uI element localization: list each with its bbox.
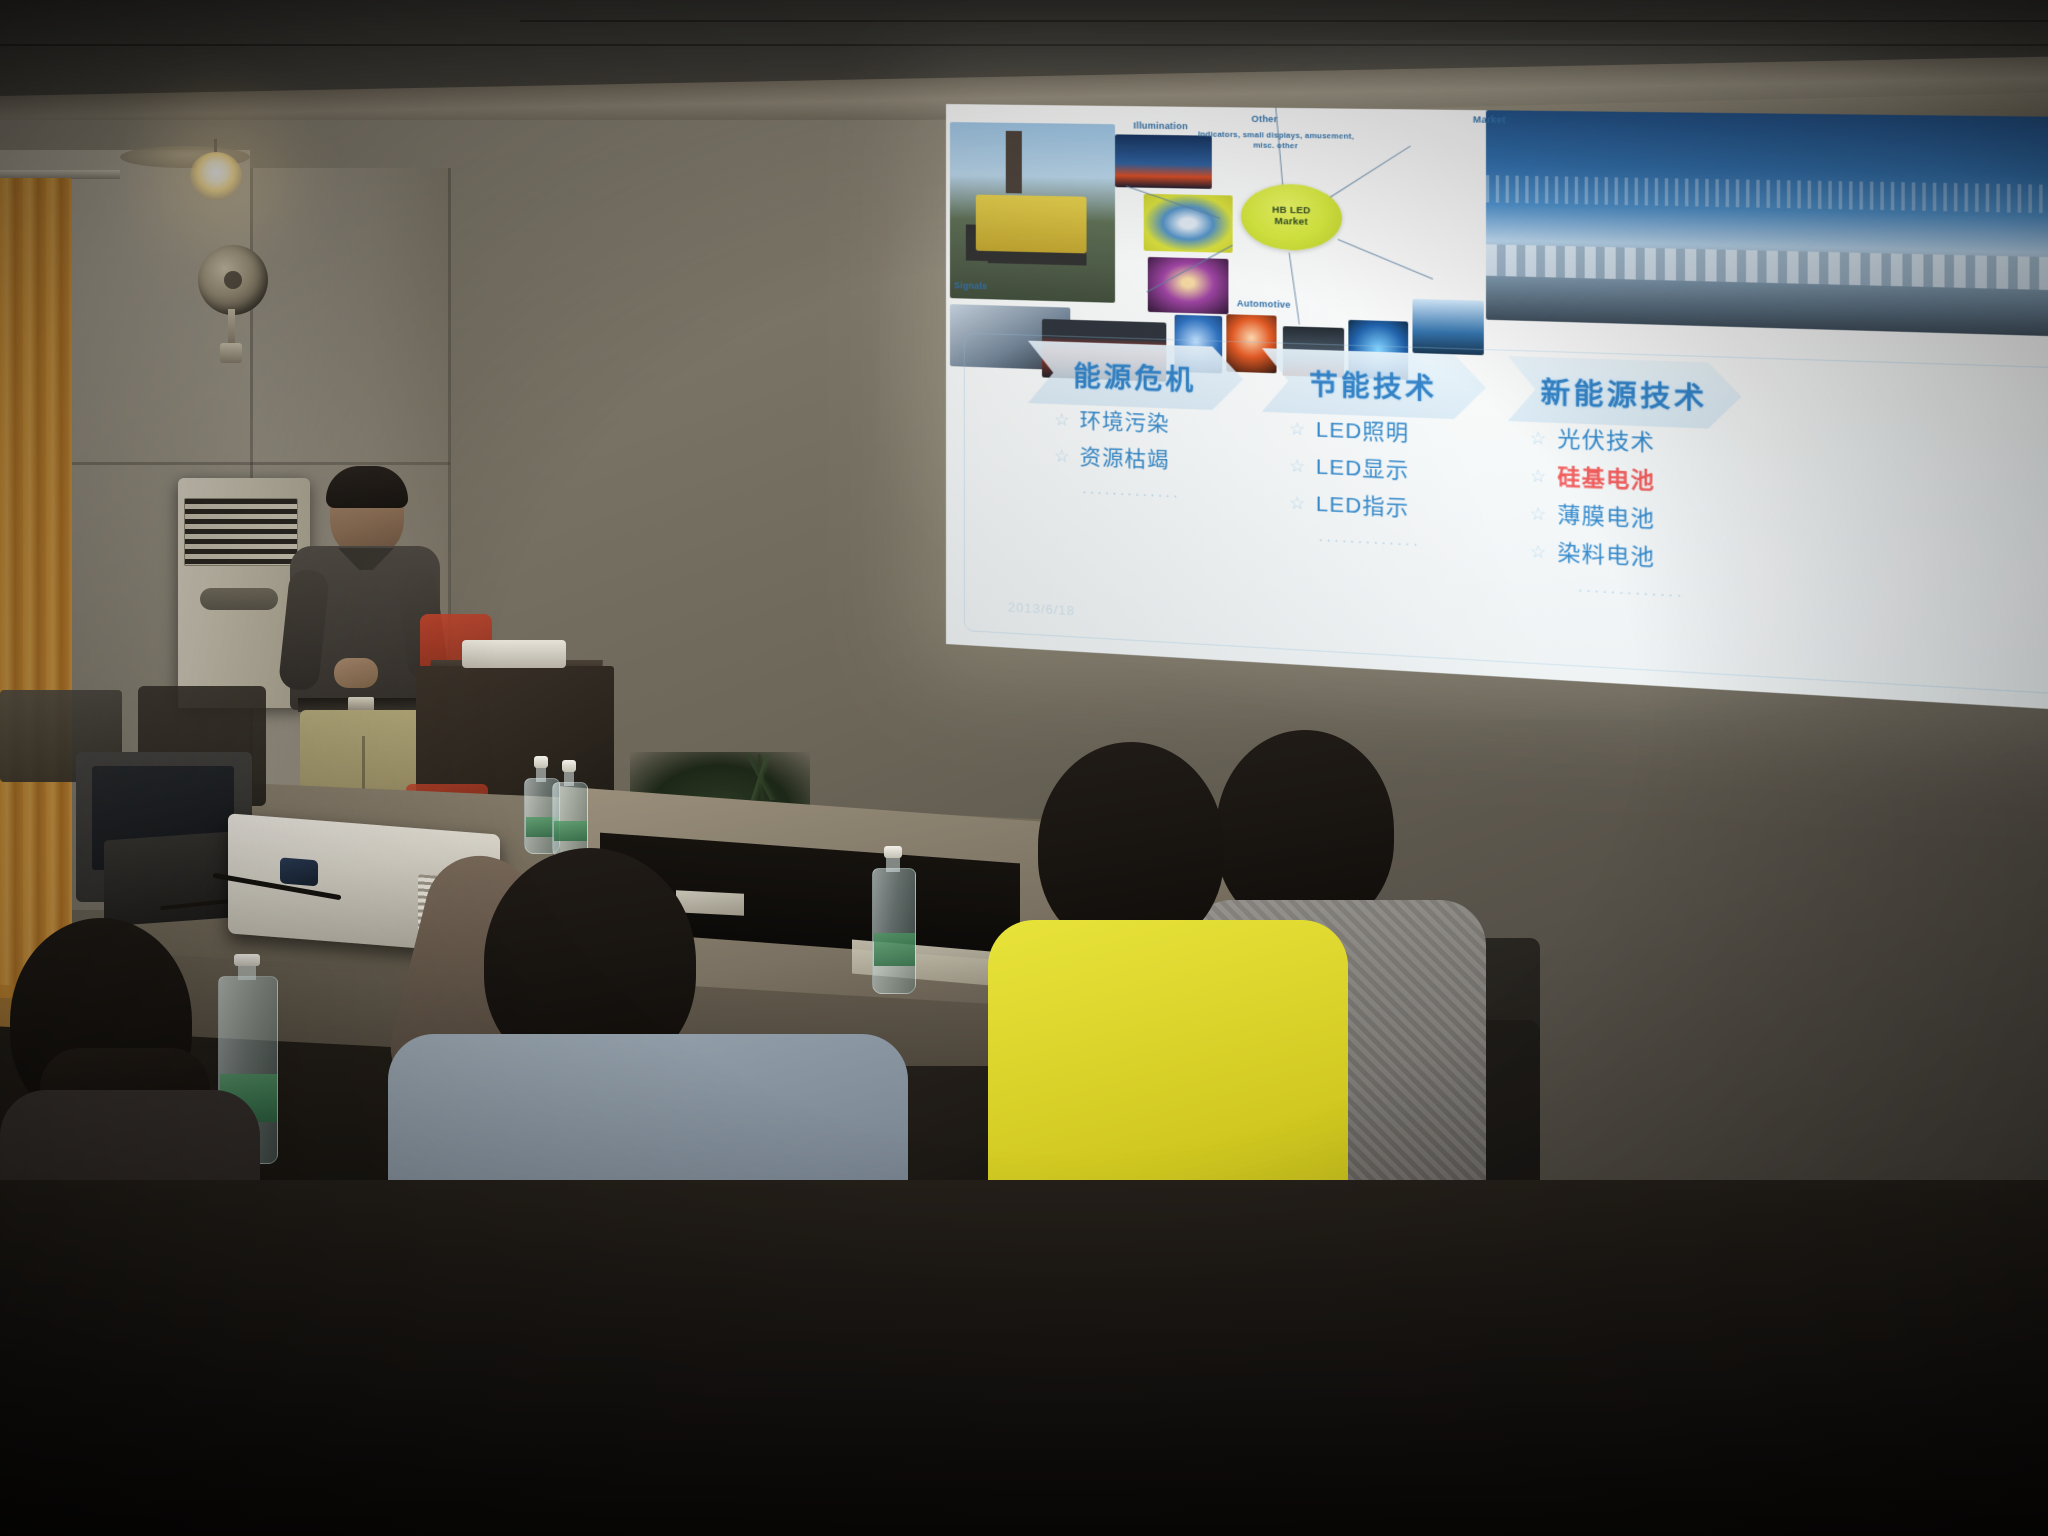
star-icon: ☆ bbox=[1054, 443, 1070, 470]
star-icon: ☆ bbox=[1289, 453, 1306, 480]
projection-screen: HB LED Market Illumination Other Indicat… bbox=[946, 104, 2048, 715]
conference-room-photo: HB LED Market Illumination Other Indicat… bbox=[0, 0, 2048, 1536]
diagram-label-illumination: Illumination bbox=[1133, 120, 1187, 131]
fan-head-icon bbox=[198, 245, 268, 315]
diagram-spoke bbox=[1329, 145, 1411, 198]
presenter-hands bbox=[334, 658, 378, 688]
fan-hub bbox=[224, 271, 242, 289]
column-title: 节能技术 bbox=[1309, 362, 1437, 407]
list-item-label: 薄膜电池 bbox=[1557, 499, 1655, 537]
bottle-label bbox=[554, 821, 587, 840]
ac-brand-badge bbox=[200, 588, 278, 610]
column-ellipsis: ............. bbox=[1082, 480, 1264, 504]
presenter-hair bbox=[326, 466, 408, 508]
list-item: ☆ 资源枯竭 bbox=[1054, 440, 1264, 481]
list-item-label: 硅基电池 bbox=[1557, 461, 1655, 499]
column-header-chevron: 能源危机 bbox=[1028, 341, 1243, 412]
list-item: ☆ LED显示 bbox=[1289, 450, 1508, 492]
hb-led-market-hub: HB LED Market bbox=[1241, 183, 1342, 251]
star-icon: ☆ bbox=[1530, 425, 1548, 453]
list-item-label: 染料电池 bbox=[1557, 536, 1655, 574]
column-ellipsis: ............. bbox=[1319, 527, 1508, 553]
list-item-label: 资源枯竭 bbox=[1080, 441, 1170, 477]
slide-column-energy-crisis: 能源危机 ☆ 环境污染 ☆ 资源枯竭 ............. bbox=[1008, 328, 1264, 504]
diagram-label-automotive: Automotive bbox=[1237, 298, 1291, 310]
led-market-diagram: HB LED Market Illumination Other Indicat… bbox=[946, 104, 2048, 359]
photo-stadium-display bbox=[1486, 110, 2048, 339]
bottle-cap bbox=[562, 760, 577, 772]
floor-area bbox=[0, 1180, 2048, 1536]
star-icon: ☆ bbox=[1289, 416, 1306, 443]
list-item-label: LED照明 bbox=[1316, 414, 1410, 451]
diagram-spoke bbox=[1338, 239, 1434, 280]
column-title: 新能源技术 bbox=[1541, 369, 1708, 416]
list-item-highlighted: ☆ 硅基电池 bbox=[1530, 460, 1765, 504]
column-title: 能源危机 bbox=[1073, 354, 1196, 398]
photo-illumination-lamp bbox=[1144, 194, 1233, 253]
star-icon: ☆ bbox=[1530, 463, 1548, 491]
hub-label-line2: Market bbox=[1275, 217, 1308, 229]
ceiling-panel-line bbox=[0, 44, 2048, 46]
bottle-body bbox=[552, 782, 588, 858]
diagram-label-signals: Signals bbox=[954, 280, 987, 291]
diagram-label-other-detail: Indicators, small displays, amusement, m… bbox=[1197, 129, 1354, 152]
ceiling-lamp-bulb-icon bbox=[190, 152, 242, 200]
star-icon: ☆ bbox=[1530, 538, 1548, 566]
fan-base bbox=[220, 343, 242, 363]
water-bottle bbox=[552, 760, 586, 856]
column-ellipsis: ............. bbox=[1578, 577, 1764, 604]
star-icon: ☆ bbox=[1530, 501, 1548, 529]
laptop bbox=[104, 832, 232, 927]
list-item-label: LED指示 bbox=[1316, 488, 1410, 525]
photo-led-lamp bbox=[1148, 257, 1229, 314]
slide-column-energy-saving: 节能技术 ☆ LED照明 ☆ LED显示 ☆ LED指示 ...........… bbox=[1241, 335, 1508, 553]
column-header-chevron: 新能源技术 bbox=[1508, 356, 1742, 430]
wall-fan bbox=[198, 245, 268, 331]
presentation-slide: HB LED Market Illumination Other Indicat… bbox=[946, 104, 2048, 715]
list-item: ☆ 薄膜电池 bbox=[1530, 497, 1765, 541]
list-item-label: 光伏技术 bbox=[1557, 423, 1655, 461]
diagram-label-market: Market bbox=[1473, 114, 1506, 125]
audience-head bbox=[1038, 742, 1224, 950]
window-curtain bbox=[0, 178, 72, 998]
fan-neck bbox=[228, 309, 235, 345]
list-item-label: 环境污染 bbox=[1080, 405, 1170, 441]
bottle-cap bbox=[534, 756, 549, 768]
ceiling-panel-line bbox=[520, 20, 2048, 22]
diagram-spoke bbox=[1289, 253, 1300, 325]
slide-column-new-energy: 新能源技术 ☆ 光伏技术 ☆ 硅基电池 ☆ 薄膜电池 ☆ bbox=[1486, 343, 1764, 604]
list-item: ☆ 染料电池 bbox=[1530, 535, 1765, 580]
projector-lens-icon bbox=[280, 857, 318, 886]
diagram-label-other: Other bbox=[1251, 114, 1277, 125]
list-item: ☆ LED指示 bbox=[1289, 487, 1508, 530]
star-icon: ☆ bbox=[1054, 407, 1070, 434]
star-icon: ☆ bbox=[1289, 490, 1306, 517]
secondary-projector bbox=[462, 640, 566, 668]
list-item-label: LED显示 bbox=[1316, 451, 1410, 488]
column-header-chevron: 节能技术 bbox=[1262, 348, 1486, 420]
photo-mining-truck bbox=[950, 122, 1115, 303]
